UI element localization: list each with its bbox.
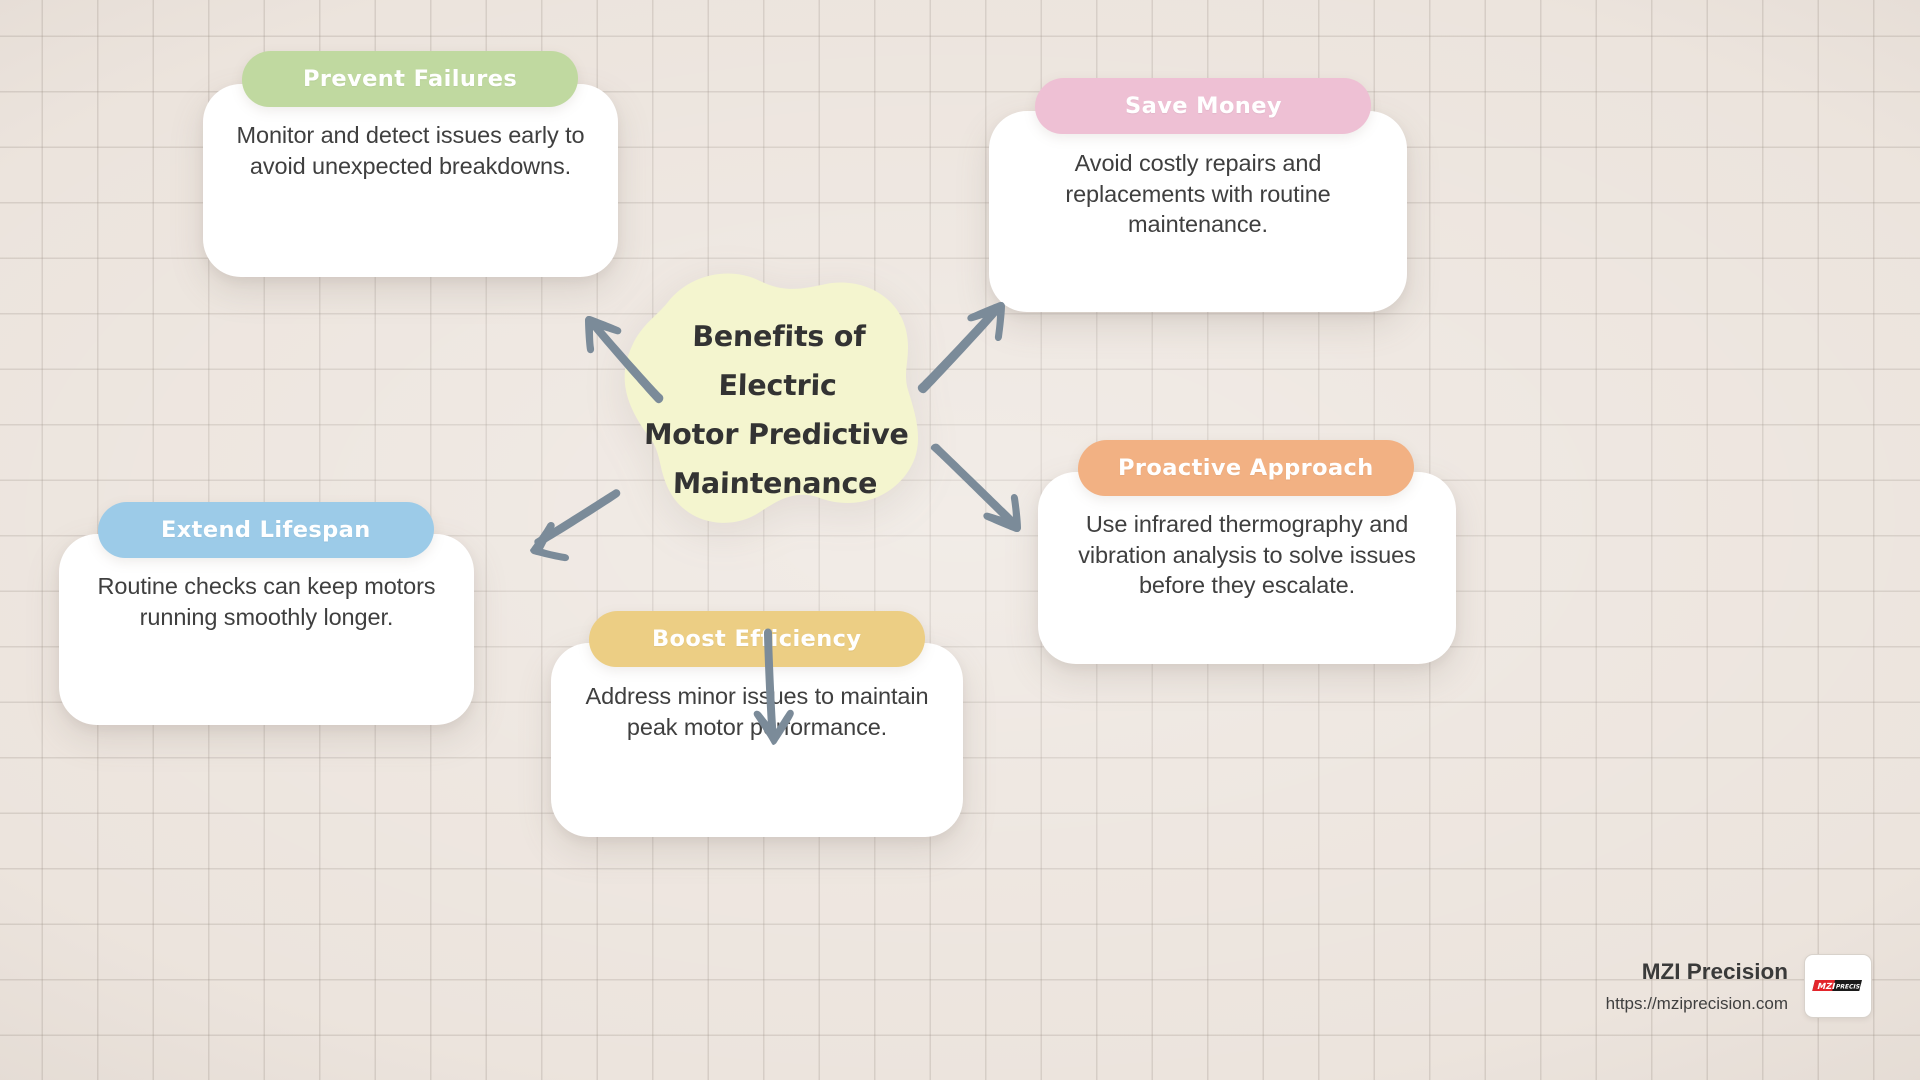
- infographic-canvas: Prevent Failures Monitor and detect issu…: [0, 0, 1920, 1080]
- card-body-prevent-failures: Monitor and detect issues early to avoid…: [203, 120, 618, 181]
- card-header-proactive-approach[interactable]: Proactive Approach: [1077, 440, 1414, 496]
- center-title: Benefits of Electric Motor Predictive Ma…: [629, 312, 924, 508]
- card-title-extend-lifespan: Extend Lifespan: [161, 517, 371, 543]
- brand-name: MZI Precision: [1606, 958, 1788, 986]
- center-title-line-1: Benefits of Electric: [632, 312, 925, 410]
- brand-footer: MZI Precision https://mziprecision.com M…: [1606, 954, 1872, 1018]
- mzi-logo-icon: MZI PRECISION: [1810, 976, 1866, 996]
- mzi-logo-precision-text: PRECISION: [1835, 984, 1866, 991]
- card-body-proactive-approach: Use infrared thermography and vibration …: [1038, 509, 1456, 601]
- center-title-line-2: Motor Predictive: [631, 410, 922, 459]
- card-body-extend-lifespan: Routine checks can keep motors running s…: [59, 571, 474, 632]
- card-header-save-money[interactable]: Save Money: [1034, 78, 1371, 134]
- brand-text-block: MZI Precision https://mziprecision.com: [1606, 958, 1788, 1013]
- card-title-prevent-failures: Prevent Failures: [303, 66, 517, 92]
- mzi-logo-mzi-text: MZI: [1816, 982, 1836, 992]
- card-header-prevent-failures[interactable]: Prevent Failures: [241, 51, 578, 107]
- card-title-proactive-approach: Proactive Approach: [1118, 455, 1374, 481]
- mzi-precision-logo: MZI PRECISION: [1804, 954, 1872, 1018]
- card-title-save-money: Save Money: [1125, 93, 1282, 119]
- card-header-boost-efficiency[interactable]: Boost Efficiency: [588, 611, 925, 667]
- brand-url[interactable]: https://mziprecision.com: [1606, 994, 1788, 1014]
- center-title-line-3: Maintenance: [629, 459, 920, 508]
- arrow-to-extend-lifespan: [518, 482, 623, 562]
- card-header-extend-lifespan[interactable]: Extend Lifespan: [97, 502, 434, 558]
- card-body-boost-efficiency: Address minor issues to maintain peak mo…: [551, 681, 963, 742]
- card-body-save-money: Avoid costly repairs and replacements wi…: [989, 148, 1407, 240]
- card-title-boost-efficiency: Boost Efficiency: [652, 626, 861, 652]
